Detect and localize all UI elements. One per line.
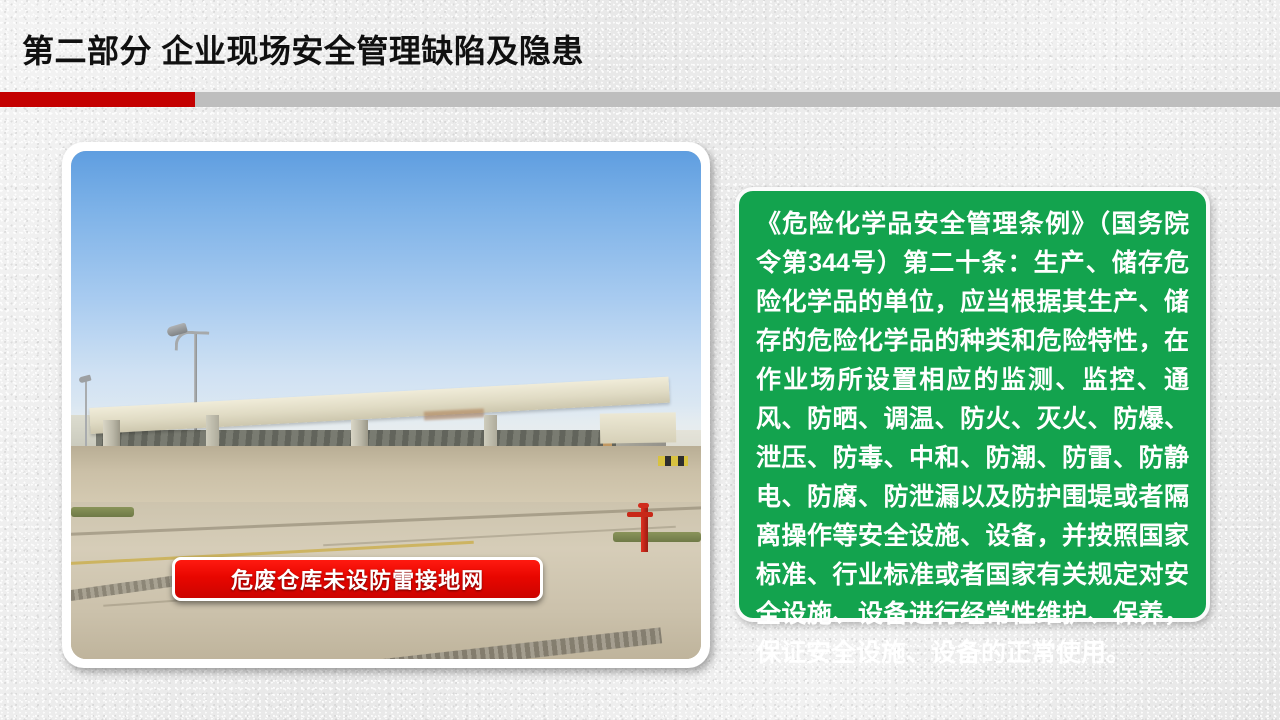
- page-title: 第二部分 企业现场安全管理缺陷及隐患: [22, 27, 822, 75]
- photo-grass-strip: [71, 507, 134, 517]
- photo-grass-strip: [613, 532, 701, 542]
- photo-fire-hydrant-cap: [638, 503, 649, 508]
- divider-accent-red: [0, 92, 195, 107]
- photo-caption-text: 危废仓库未设防雷接地网: [231, 563, 484, 595]
- photo-roof-end-cap: [600, 412, 676, 443]
- photo-caption-badge: 危废仓库未设防雷接地网: [172, 557, 544, 601]
- hazardous-waste-warehouse-photo: 危废仓库未设防雷接地网: [71, 151, 701, 659]
- photo-fire-hydrant-arm: [627, 512, 653, 517]
- regulation-panel: 《危险化学品安全管理条例》（国务院令第344号）第二十条：生产、储存危险化学品的…: [735, 187, 1210, 622]
- regulation-text: 《危险化学品安全管理条例》（国务院令第344号）第二十条：生产、储存危险化学品的…: [756, 205, 1189, 673]
- photo-card[interactable]: 危废仓库未设防雷接地网: [62, 142, 710, 668]
- header-divider: [0, 92, 1280, 107]
- divider-accent-gray: [195, 92, 1280, 107]
- photo-warning-bollard: [658, 456, 688, 466]
- photo-street-lamp-pole: [85, 380, 87, 446]
